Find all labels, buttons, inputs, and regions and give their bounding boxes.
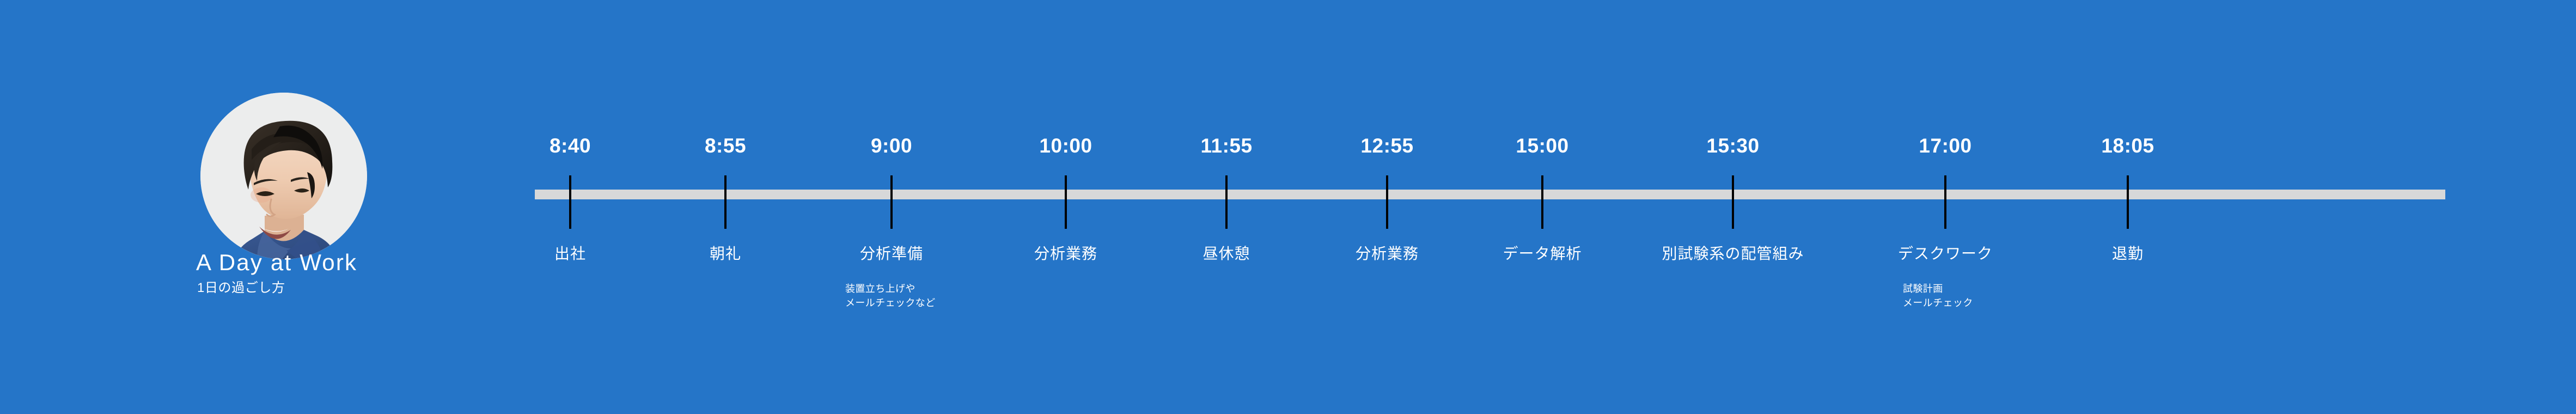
timeline-tick-marker — [724, 175, 727, 229]
timeline-tick-marker — [569, 175, 571, 229]
timeline-event-time: 15:30 — [1706, 134, 1759, 158]
timeline-tick-marker — [890, 175, 893, 229]
timeline-tick-marker — [2127, 175, 2129, 229]
timeline-event-label: 出社 — [554, 243, 586, 264]
timeline-event-subtext: 装置立ち上げやメールチェックなど — [845, 282, 936, 310]
timeline-event-label: 退勤 — [2112, 243, 2144, 264]
timeline-event-subtext-line: 装置立ち上げや — [845, 282, 936, 296]
timeline-event-time: 12:55 — [1360, 134, 1413, 158]
timeline-event-label: 朝礼 — [710, 243, 741, 264]
timeline-event-subtext: 試験計画メールチェック — [1903, 282, 1973, 310]
timeline-tick-marker — [1732, 175, 1734, 229]
timeline-event-label: データ解析 — [1503, 243, 1582, 264]
timeline-event-label: 分析業務 — [1356, 243, 1419, 264]
timeline-tick-marker — [1065, 175, 1067, 229]
timeline-event-label: 昼休憩 — [1202, 243, 1250, 264]
timeline-event-label: デスクワーク — [1898, 243, 1993, 264]
profile-block: A Day at Work 1日の過ごし方 — [196, 87, 534, 338]
timeline-tick-marker — [1541, 175, 1543, 229]
timeline-event-time: 17:00 — [1919, 134, 1971, 158]
timeline-event-time: 8:40 — [550, 134, 591, 158]
timeline-event-subtext-line: 試験計画 — [1903, 282, 1973, 296]
timeline-event-time: 10:00 — [1039, 134, 1092, 158]
timeline-event-time: 18:05 — [2101, 134, 2154, 158]
timeline-bar — [535, 190, 2445, 199]
timeline-event-time: 11:55 — [1200, 134, 1252, 158]
timeline-event-time: 8:55 — [705, 134, 746, 158]
page-subtitle: 1日の過ごし方 — [197, 279, 285, 297]
timeline-tick-marker — [1944, 175, 1946, 229]
timeline-event-label: 分析準備 — [860, 243, 923, 264]
timeline-tick-marker — [1225, 175, 1228, 229]
timeline-event-time: 9:00 — [871, 134, 912, 158]
timeline-event-label: 別試験系の配管組み — [1662, 243, 1804, 264]
page-title: A Day at Work — [196, 248, 357, 277]
avatar — [200, 93, 367, 259]
timeline-event-label: 分析業務 — [1034, 243, 1097, 264]
avatar-portrait-image — [200, 93, 367, 259]
a-day-at-work-banner: A Day at Work 1日の過ごし方 8:40出社8:55朝礼9:00分析… — [0, 0, 2576, 414]
timeline: 8:40出社8:55朝礼9:00分析準備装置立ち上げやメールチェックなど10:0… — [535, 0, 2445, 414]
timeline-event-time: 15:00 — [1516, 134, 1568, 158]
timeline-tick-marker — [1386, 175, 1388, 229]
timeline-event-subtext-line: メールチェックなど — [845, 296, 936, 310]
timeline-event-subtext-line: メールチェック — [1903, 296, 1973, 310]
